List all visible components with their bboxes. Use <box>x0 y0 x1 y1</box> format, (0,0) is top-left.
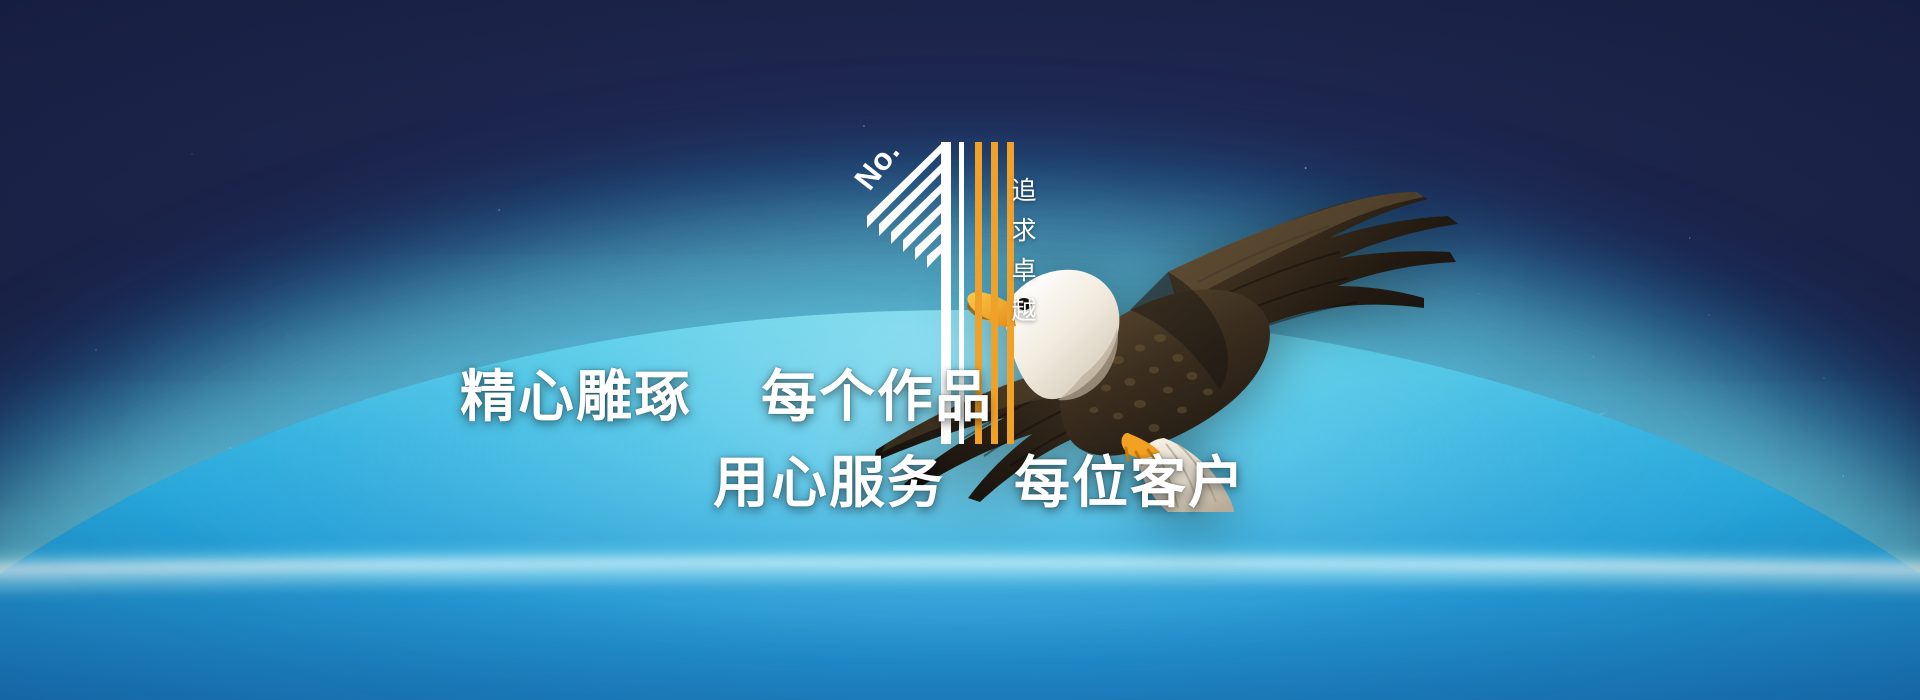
vertical-slogan-char-2: 求 <box>1011 218 1036 243</box>
headline-line-1: 精心雕琢 每个作品 <box>460 370 1460 426</box>
vertical-slogan-char-4: 越 <box>1011 298 1036 323</box>
headline-line-1-part-1: 精心雕琢 <box>460 365 692 430</box>
headline-line-2-part-1: 用心服务 <box>713 451 945 516</box>
headline-line-2-part-2: 每位客户 <box>1014 451 1246 516</box>
headline-line-1-part-2: 每个作品 <box>761 365 993 430</box>
vertical-slogan-char-3: 卓 <box>1011 258 1036 283</box>
headline-block: 精心雕琢 每个作品 用心服务 每位客户 <box>460 370 1460 512</box>
vertical-slogan-char-1: 追 <box>1011 178 1036 203</box>
headline-line-2: 用心服务 每位客户 <box>713 456 1460 512</box>
hero-banner: No. 追 求 卓 越 精心雕琢 每个作品 用心服务 每位客户 <box>0 0 1920 700</box>
vertical-slogan: 追 求 卓 越 <box>1003 178 1045 323</box>
